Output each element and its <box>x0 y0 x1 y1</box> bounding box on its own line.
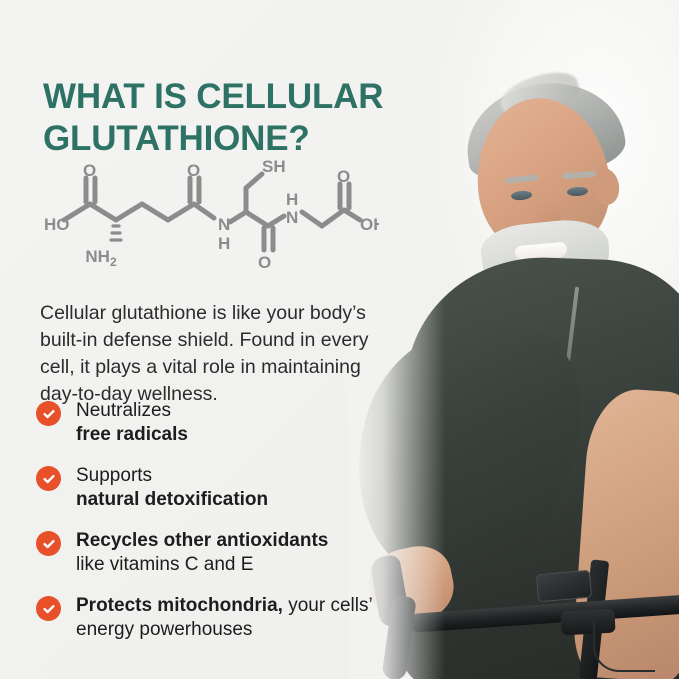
label-n-2: N <box>286 208 298 227</box>
label-h-2: H <box>286 190 298 209</box>
benefit-lead: Supports <box>76 465 152 486</box>
label-n-1: N <box>218 215 230 234</box>
infographic-card: Continual-G· WHAT IS CELLULAR GLUTATHION… <box>0 0 679 679</box>
benefit-item: Supports natural detoxification <box>36 463 416 513</box>
benefit-label: Neutralizes free radicals <box>76 398 188 447</box>
bike-computer <box>536 570 592 603</box>
label-o-2: O <box>187 161 200 180</box>
label-sh: SH <box>262 157 286 176</box>
benefit-label: Protects mitochondria, your cells’ energ… <box>76 593 416 642</box>
intro-paragraph: Cellular glutathione is like your body’s… <box>40 300 395 408</box>
label-h-1: H <box>218 234 230 253</box>
page-title: WHAT IS CELLULAR GLUTATHIONE? <box>43 76 423 160</box>
check-circle-icon <box>36 531 61 556</box>
label-o-3: O <box>258 253 271 272</box>
brake-cable <box>593 622 655 672</box>
benefits-list: Neutralizes free radicals Supports natur… <box>36 398 416 658</box>
benefit-lead: Neutralizes <box>76 400 171 421</box>
benefit-label: Recycles other antioxidants like vitamin… <box>76 528 328 577</box>
benefit-item: Protects mitochondria, your cells’ energ… <box>36 593 416 643</box>
benefit-lead: Recycles other antioxidants <box>76 530 328 551</box>
check-circle-icon <box>36 596 61 621</box>
benefit-tail: like vitamins C and E <box>76 554 253 575</box>
label-o-1: O <box>83 161 96 180</box>
label-o-4: O <box>337 167 350 186</box>
label-nh2: NH2 <box>85 247 117 269</box>
label-ho: HO <box>44 215 70 234</box>
check-circle-icon <box>36 466 61 491</box>
benefit-lead: Protects mitochondria, <box>76 595 283 616</box>
benefit-tail: natural detoxification <box>76 489 268 510</box>
benefit-tail: free radicals <box>76 424 188 445</box>
benefit-item: Neutralizes free radicals <box>36 398 416 448</box>
check-circle-icon <box>36 401 61 426</box>
benefit-item: Recycles other antioxidants like vitamin… <box>36 528 416 578</box>
label-oh: OH <box>360 215 379 234</box>
glutathione-structure-diagram: HO O NH2 O N H SH O H N O OH <box>34 150 379 275</box>
content-column: WHAT IS CELLULAR GLUTATHIONE? <box>0 0 420 679</box>
benefit-label: Supports natural detoxification <box>76 463 268 512</box>
